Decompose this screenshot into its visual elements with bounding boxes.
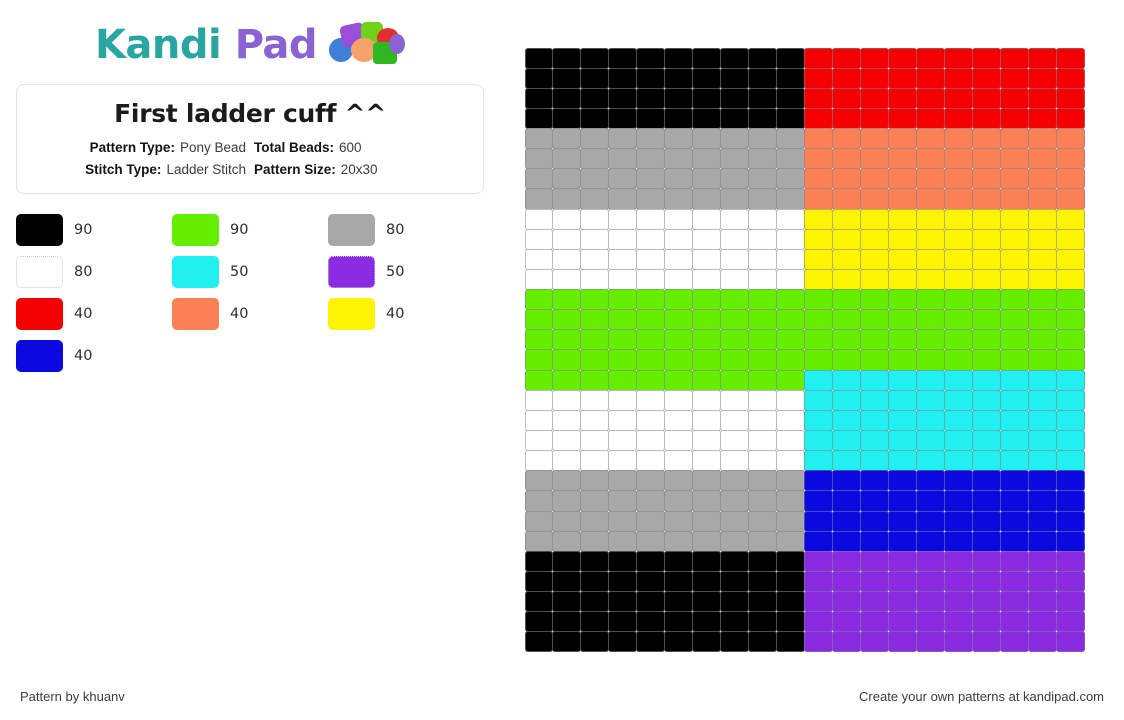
bead-cell[interactable] xyxy=(636,430,665,451)
bead-cell[interactable] xyxy=(972,470,1001,491)
bead-cell[interactable] xyxy=(525,188,554,209)
bead-cell[interactable] xyxy=(860,148,889,169)
legend-swatch-orange[interactable] xyxy=(172,298,219,330)
bead-cell[interactable] xyxy=(580,269,609,290)
bead-cell[interactable] xyxy=(636,329,665,350)
bead-cell[interactable] xyxy=(720,490,749,511)
bead-cell[interactable] xyxy=(804,48,833,69)
bead-cell[interactable] xyxy=(525,229,554,250)
bead-cell[interactable] xyxy=(888,229,917,250)
bead-cell[interactable] xyxy=(525,490,554,511)
bead-cell[interactable] xyxy=(1028,309,1057,330)
bead-cell[interactable] xyxy=(832,289,861,310)
bead-cell[interactable] xyxy=(720,289,749,310)
bead-cell[interactable] xyxy=(1056,511,1085,532)
bead-cell[interactable] xyxy=(692,48,721,69)
bead-cell[interactable] xyxy=(776,470,805,491)
bead-cell[interactable] xyxy=(1056,430,1085,451)
bead-cell[interactable] xyxy=(776,551,805,572)
bead-cell[interactable] xyxy=(1056,249,1085,270)
bead-cell[interactable] xyxy=(972,88,1001,109)
bead-cell[interactable] xyxy=(916,168,945,189)
legend-item-green[interactable]: 90 xyxy=(172,214,328,246)
bead-cell[interactable] xyxy=(776,249,805,270)
bead-cell[interactable] xyxy=(860,209,889,230)
bead-cell[interactable] xyxy=(720,410,749,431)
bead-cell[interactable] xyxy=(525,531,554,552)
bead-cell[interactable] xyxy=(1000,410,1029,431)
bead-cell[interactable] xyxy=(608,68,637,89)
bead-cell[interactable] xyxy=(944,48,973,69)
bead-cell[interactable] xyxy=(608,309,637,330)
bead-cell[interactable] xyxy=(748,128,777,149)
bead-cell[interactable] xyxy=(1000,571,1029,592)
bead-cell[interactable] xyxy=(1028,370,1057,391)
bead-cell[interactable] xyxy=(1056,490,1085,511)
bead-cell[interactable] xyxy=(972,591,1001,612)
bead-cell[interactable] xyxy=(636,551,665,572)
pattern-grid-container[interactable] xyxy=(525,48,1084,652)
bead-cell[interactable] xyxy=(1000,490,1029,511)
bead-cell[interactable] xyxy=(888,329,917,350)
bead-cell[interactable] xyxy=(972,309,1001,330)
bead-cell[interactable] xyxy=(748,349,777,370)
bead-cell[interactable] xyxy=(832,349,861,370)
bead-cell[interactable] xyxy=(580,68,609,89)
bead-cell[interactable] xyxy=(1000,531,1029,552)
bead-cell[interactable] xyxy=(636,531,665,552)
bead-cell[interactable] xyxy=(748,289,777,310)
bead-cell[interactable] xyxy=(944,329,973,350)
legend-swatch-white[interactable] xyxy=(16,256,63,288)
bead-cell[interactable] xyxy=(552,229,581,250)
bead-cell[interactable] xyxy=(888,430,917,451)
bead-cell[interactable] xyxy=(664,68,693,89)
bead-cell[interactable] xyxy=(888,128,917,149)
bead-cell[interactable] xyxy=(916,591,945,612)
bead-cell[interactable] xyxy=(1000,229,1029,250)
bead-cell[interactable] xyxy=(525,611,554,632)
bead-cell[interactable] xyxy=(692,229,721,250)
bead-cell[interactable] xyxy=(776,349,805,370)
bead-cell[interactable] xyxy=(692,309,721,330)
bead-cell[interactable] xyxy=(776,88,805,109)
bead-cell[interactable] xyxy=(1000,591,1029,612)
bead-cell[interactable] xyxy=(552,309,581,330)
bead-cell[interactable] xyxy=(972,531,1001,552)
bead-cell[interactable] xyxy=(804,309,833,330)
bead-cell[interactable] xyxy=(552,531,581,552)
bead-cell[interactable] xyxy=(776,168,805,189)
bead-cell[interactable] xyxy=(608,108,637,129)
bead-cell[interactable] xyxy=(832,631,861,652)
bead-cell[interactable] xyxy=(1028,470,1057,491)
bead-cell[interactable] xyxy=(720,370,749,391)
bead-cell[interactable] xyxy=(636,390,665,411)
bead-cell[interactable] xyxy=(1000,148,1029,169)
bead-cell[interactable] xyxy=(860,88,889,109)
bead-cell[interactable] xyxy=(1028,249,1057,270)
bead-cell[interactable] xyxy=(944,229,973,250)
bead-cell[interactable] xyxy=(525,209,554,230)
bead-cell[interactable] xyxy=(1000,269,1029,290)
bead-cell[interactable] xyxy=(692,531,721,552)
bead-cell[interactable] xyxy=(972,289,1001,310)
bead-cell[interactable] xyxy=(664,289,693,310)
bead-cell[interactable] xyxy=(608,631,637,652)
bead-cell[interactable] xyxy=(1028,571,1057,592)
bead-cell[interactable] xyxy=(636,571,665,592)
bead-cell[interactable] xyxy=(944,68,973,89)
bead-cell[interactable] xyxy=(944,289,973,310)
bead-cell[interactable] xyxy=(720,329,749,350)
bead-cell[interactable] xyxy=(1028,188,1057,209)
bead-cell[interactable] xyxy=(916,229,945,250)
bead-cell[interactable] xyxy=(972,551,1001,572)
bead-cell[interactable] xyxy=(1028,88,1057,109)
bead-cell[interactable] xyxy=(776,631,805,652)
bead-cell[interactable] xyxy=(944,591,973,612)
bead-cell[interactable] xyxy=(1028,329,1057,350)
bead-cell[interactable] xyxy=(1028,209,1057,230)
bead-cell[interactable] xyxy=(692,289,721,310)
bead-cell[interactable] xyxy=(776,229,805,250)
bead-cell[interactable] xyxy=(1028,410,1057,431)
bead-cell[interactable] xyxy=(916,269,945,290)
legend-swatch-yellow[interactable] xyxy=(328,298,375,330)
bead-cell[interactable] xyxy=(832,329,861,350)
bead-cell[interactable] xyxy=(860,309,889,330)
bead-cell[interactable] xyxy=(804,531,833,552)
bead-cell[interactable] xyxy=(1028,390,1057,411)
bead-cell[interactable] xyxy=(860,490,889,511)
bead-cell[interactable] xyxy=(916,289,945,310)
bead-cell[interactable] xyxy=(636,490,665,511)
bead-cell[interactable] xyxy=(720,229,749,250)
bead-cell[interactable] xyxy=(636,410,665,431)
legend-swatch-gray[interactable] xyxy=(328,214,375,246)
bead-cell[interactable] xyxy=(664,410,693,431)
bead-cell[interactable] xyxy=(776,611,805,632)
bead-cell[interactable] xyxy=(860,168,889,189)
bead-cell[interactable] xyxy=(804,88,833,109)
bead-cell[interactable] xyxy=(1028,591,1057,612)
bead-cell[interactable] xyxy=(972,148,1001,169)
bead-cell[interactable] xyxy=(636,349,665,370)
bead-cell[interactable] xyxy=(580,551,609,572)
bead-cell[interactable] xyxy=(1056,68,1085,89)
bead-cell[interactable] xyxy=(525,511,554,532)
bead-cell[interactable] xyxy=(692,188,721,209)
bead-cell[interactable] xyxy=(608,168,637,189)
bead-cell[interactable] xyxy=(916,631,945,652)
bead-cell[interactable] xyxy=(1028,229,1057,250)
bead-cell[interactable] xyxy=(552,390,581,411)
bead-cell[interactable] xyxy=(692,470,721,491)
bead-cell[interactable] xyxy=(580,108,609,129)
bead-cell[interactable] xyxy=(664,188,693,209)
bead-cell[interactable] xyxy=(1056,410,1085,431)
bead-cell[interactable] xyxy=(608,511,637,532)
bead-cell[interactable] xyxy=(664,48,693,69)
bead-cell[interactable] xyxy=(636,289,665,310)
bead-cell[interactable] xyxy=(832,410,861,431)
bead-cell[interactable] xyxy=(860,470,889,491)
bead-cell[interactable] xyxy=(692,269,721,290)
bead-cell[interactable] xyxy=(664,511,693,532)
bead-cell[interactable] xyxy=(664,390,693,411)
bead-cell[interactable] xyxy=(636,128,665,149)
bead-cell[interactable] xyxy=(692,108,721,129)
bead-cell[interactable] xyxy=(1000,168,1029,189)
bead-cell[interactable] xyxy=(776,209,805,230)
bead-cell[interactable] xyxy=(580,511,609,532)
bead-cell[interactable] xyxy=(692,611,721,632)
bead-cell[interactable] xyxy=(888,490,917,511)
bead-cell[interactable] xyxy=(972,490,1001,511)
bead-cell[interactable] xyxy=(720,148,749,169)
bead-cell[interactable] xyxy=(916,611,945,632)
bead-cell[interactable] xyxy=(525,470,554,491)
bead-cell[interactable] xyxy=(720,591,749,612)
bead-cell[interactable] xyxy=(888,349,917,370)
bead-cell[interactable] xyxy=(525,631,554,652)
bead-cell[interactable] xyxy=(552,591,581,612)
bead-cell[interactable] xyxy=(636,591,665,612)
bead-cell[interactable] xyxy=(636,68,665,89)
bead-cell[interactable] xyxy=(580,531,609,552)
bead-cell[interactable] xyxy=(1056,88,1085,109)
bead-cell[interactable] xyxy=(1056,188,1085,209)
bead-cell[interactable] xyxy=(1000,68,1029,89)
bead-cell[interactable] xyxy=(944,631,973,652)
bead-cell[interactable] xyxy=(525,168,554,189)
bead-cell[interactable] xyxy=(692,329,721,350)
bead-cell[interactable] xyxy=(776,188,805,209)
bead-cell[interactable] xyxy=(720,450,749,471)
bead-cell[interactable] xyxy=(552,269,581,290)
bead-cell[interactable] xyxy=(525,430,554,451)
bead-cell[interactable] xyxy=(664,209,693,230)
bead-cell[interactable] xyxy=(608,450,637,471)
bead-cell[interactable] xyxy=(608,88,637,109)
bead-cell[interactable] xyxy=(580,289,609,310)
bead-cell[interactable] xyxy=(832,309,861,330)
bead-cell[interactable] xyxy=(748,108,777,129)
bead-cell[interactable] xyxy=(888,370,917,391)
bead-cell[interactable] xyxy=(804,188,833,209)
bead-cell[interactable] xyxy=(720,551,749,572)
bead-cell[interactable] xyxy=(888,48,917,69)
bead-cell[interactable] xyxy=(692,631,721,652)
bead-cell[interactable] xyxy=(972,108,1001,129)
bead-cell[interactable] xyxy=(580,390,609,411)
bead-cell[interactable] xyxy=(580,470,609,491)
bead-cell[interactable] xyxy=(608,611,637,632)
bead-cell[interactable] xyxy=(804,128,833,149)
bead-cell[interactable] xyxy=(804,249,833,270)
bead-cell[interactable] xyxy=(860,349,889,370)
bead-cell[interactable] xyxy=(776,269,805,290)
bead-cell[interactable] xyxy=(636,470,665,491)
bead-cell[interactable] xyxy=(804,209,833,230)
bead-cell[interactable] xyxy=(692,148,721,169)
bead-cell[interactable] xyxy=(1056,390,1085,411)
bead-cell[interactable] xyxy=(888,631,917,652)
bead-cell[interactable] xyxy=(972,269,1001,290)
bead-cell[interactable] xyxy=(1000,48,1029,69)
bead-cell[interactable] xyxy=(580,450,609,471)
bead-cell[interactable] xyxy=(720,390,749,411)
bead-cell[interactable] xyxy=(748,168,777,189)
bead-cell[interactable] xyxy=(972,571,1001,592)
bead-cell[interactable] xyxy=(636,631,665,652)
bead-cell[interactable] xyxy=(1056,370,1085,391)
legend-swatch-purple[interactable] xyxy=(328,256,375,288)
bead-cell[interactable] xyxy=(636,48,665,69)
bead-cell[interactable] xyxy=(608,490,637,511)
bead-cell[interactable] xyxy=(832,68,861,89)
bead-cell[interactable] xyxy=(608,128,637,149)
bead-cell[interactable] xyxy=(972,188,1001,209)
bead-cell[interactable] xyxy=(692,591,721,612)
legend-swatch-cyan[interactable] xyxy=(172,256,219,288)
bead-cell[interactable] xyxy=(664,450,693,471)
bead-cell[interactable] xyxy=(916,370,945,391)
bead-cell[interactable] xyxy=(692,249,721,270)
bead-cell[interactable] xyxy=(860,329,889,350)
bead-cell[interactable] xyxy=(1000,511,1029,532)
bead-cell[interactable] xyxy=(832,48,861,69)
bead-cell[interactable] xyxy=(944,430,973,451)
bead-cell[interactable] xyxy=(664,611,693,632)
bead-cell[interactable] xyxy=(664,571,693,592)
bead-cell[interactable] xyxy=(944,188,973,209)
bead-cell[interactable] xyxy=(1000,430,1029,451)
bead-cell[interactable] xyxy=(720,249,749,270)
bead-cell[interactable] xyxy=(608,269,637,290)
bead-cell[interactable] xyxy=(664,168,693,189)
bead-cell[interactable] xyxy=(972,209,1001,230)
bead-cell[interactable] xyxy=(664,490,693,511)
bead-cell[interactable] xyxy=(944,269,973,290)
bead-cell[interactable] xyxy=(832,229,861,250)
bead-cell[interactable] xyxy=(636,450,665,471)
bead-cell[interactable] xyxy=(525,269,554,290)
bead-cell[interactable] xyxy=(552,611,581,632)
bead-cell[interactable] xyxy=(860,511,889,532)
bead-cell[interactable] xyxy=(608,591,637,612)
bead-cell[interactable] xyxy=(944,490,973,511)
bead-cell[interactable] xyxy=(664,148,693,169)
bead-cell[interactable] xyxy=(1028,289,1057,310)
bead-cell[interactable] xyxy=(776,591,805,612)
bead-cell[interactable] xyxy=(552,551,581,572)
bead-cell[interactable] xyxy=(944,531,973,552)
bead-cell[interactable] xyxy=(720,511,749,532)
bead-cell[interactable] xyxy=(1056,148,1085,169)
bead-cell[interactable] xyxy=(552,410,581,431)
bead-cell[interactable] xyxy=(916,128,945,149)
bead-cell[interactable] xyxy=(804,430,833,451)
bead-cell[interactable] xyxy=(580,249,609,270)
legend-item-white[interactable]: 80 xyxy=(16,256,172,288)
bead-cell[interactable] xyxy=(860,430,889,451)
bead-cell[interactable] xyxy=(972,611,1001,632)
bead-cell[interactable] xyxy=(580,229,609,250)
bead-cell[interactable] xyxy=(1028,631,1057,652)
bead-cell[interactable] xyxy=(636,209,665,230)
bead-cell[interactable] xyxy=(720,470,749,491)
bead-cell[interactable] xyxy=(888,390,917,411)
bead-cell[interactable] xyxy=(832,551,861,572)
bead-cell[interactable] xyxy=(860,229,889,250)
bead-cell[interactable] xyxy=(1000,370,1029,391)
bead-cell[interactable] xyxy=(944,309,973,330)
bead-cell[interactable] xyxy=(720,128,749,149)
bead-cell[interactable] xyxy=(776,309,805,330)
bead-cell[interactable] xyxy=(776,390,805,411)
bead-cell[interactable] xyxy=(748,249,777,270)
bead-cell[interactable] xyxy=(832,88,861,109)
bead-cell[interactable] xyxy=(748,88,777,109)
bead-cell[interactable] xyxy=(776,148,805,169)
bead-grid[interactable] xyxy=(525,48,1084,652)
bead-cell[interactable] xyxy=(916,188,945,209)
bead-cell[interactable] xyxy=(972,349,1001,370)
bead-cell[interactable] xyxy=(888,289,917,310)
bead-cell[interactable] xyxy=(664,108,693,129)
bead-cell[interactable] xyxy=(636,611,665,632)
bead-cell[interactable] xyxy=(636,168,665,189)
bead-cell[interactable] xyxy=(944,209,973,230)
bead-cell[interactable] xyxy=(860,611,889,632)
bead-cell[interactable] xyxy=(580,410,609,431)
bead-cell[interactable] xyxy=(525,410,554,431)
bead-cell[interactable] xyxy=(580,430,609,451)
bead-cell[interactable] xyxy=(664,631,693,652)
bead-cell[interactable] xyxy=(804,591,833,612)
bead-cell[interactable] xyxy=(972,410,1001,431)
bead-cell[interactable] xyxy=(888,168,917,189)
bead-cell[interactable] xyxy=(944,470,973,491)
bead-cell[interactable] xyxy=(804,470,833,491)
bead-cell[interactable] xyxy=(916,511,945,532)
bead-cell[interactable] xyxy=(888,571,917,592)
bead-cell[interactable] xyxy=(552,450,581,471)
bead-cell[interactable] xyxy=(944,511,973,532)
bead-cell[interactable] xyxy=(888,450,917,471)
bead-cell[interactable] xyxy=(916,209,945,230)
bead-cell[interactable] xyxy=(916,551,945,572)
bead-cell[interactable] xyxy=(525,108,554,129)
bead-cell[interactable] xyxy=(748,148,777,169)
bead-cell[interactable] xyxy=(748,370,777,391)
bead-cell[interactable] xyxy=(580,88,609,109)
bead-cell[interactable] xyxy=(636,188,665,209)
bead-cell[interactable] xyxy=(944,108,973,129)
bead-cell[interactable] xyxy=(748,430,777,451)
bead-cell[interactable] xyxy=(804,450,833,471)
bead-cell[interactable] xyxy=(804,511,833,532)
bead-cell[interactable] xyxy=(664,269,693,290)
bead-cell[interactable] xyxy=(1000,309,1029,330)
bead-cell[interactable] xyxy=(580,168,609,189)
bead-cell[interactable] xyxy=(776,108,805,129)
bead-cell[interactable] xyxy=(608,430,637,451)
bead-cell[interactable] xyxy=(552,470,581,491)
bead-cell[interactable] xyxy=(832,249,861,270)
